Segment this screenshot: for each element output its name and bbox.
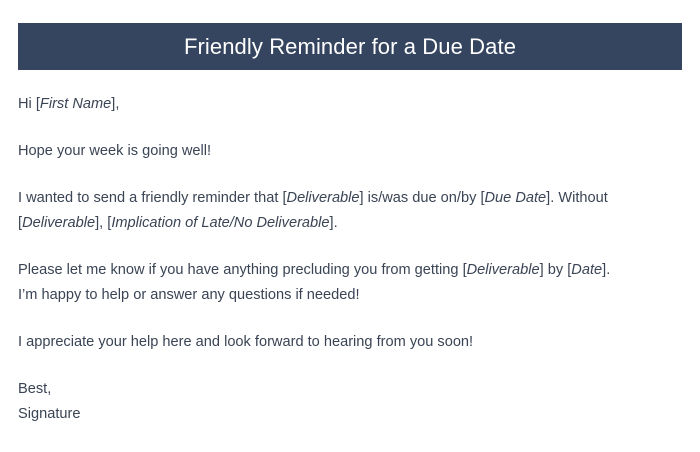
placeholder-first-name: First Name — [40, 96, 111, 112]
placeholder-implication: Implication of Late/No Deliverable — [111, 215, 329, 231]
signature-line: Signature — [18, 402, 682, 427]
paragraph-opening: Hope your week is going well! — [18, 139, 682, 164]
email-header-banner: Friendly Reminder for a Due Date — [18, 23, 682, 70]
paragraph-request-line-1: Please let me know if you have anything … — [18, 258, 682, 283]
email-body: Hi [First Name], Hope your week is going… — [18, 92, 682, 427]
placeholder-due-date: Due Date — [485, 190, 547, 206]
paragraph-reminder: I wanted to send a friendly reminder tha… — [18, 186, 682, 236]
paragraph-closing: I appreciate your help here and look for… — [18, 330, 682, 355]
reminder-text-5: . — [334, 215, 338, 231]
placeholder-deliverable: Deliverable — [22, 215, 95, 231]
paragraph-request-line-2: I’m happy to help or answer any question… — [18, 283, 682, 308]
greeting-prefix: Hi — [18, 96, 36, 112]
request-text-1: Please let me know if you have anything … — [18, 262, 463, 278]
reminder-text-1: I wanted to send a friendly reminder tha… — [18, 190, 282, 206]
signoff-line: Best, — [18, 377, 682, 402]
page-title: Friendly Reminder for a Due Date — [184, 36, 516, 58]
placeholder-deliverable: Deliverable — [467, 262, 540, 278]
greeting-line: Hi [First Name], — [18, 92, 682, 117]
request-text-3: . — [606, 262, 610, 278]
reminder-text-3: . Without — [550, 190, 608, 206]
request-text-2: by — [544, 262, 568, 278]
placeholder-deliverable: Deliverable — [287, 190, 360, 206]
placeholder-date: Date — [571, 262, 602, 278]
email-template: Friendly Reminder for a Due Date Hi [Fir… — [0, 0, 700, 452]
greeting-suffix: , — [115, 96, 119, 112]
reminder-text-2: is/was due on/by — [364, 190, 481, 206]
